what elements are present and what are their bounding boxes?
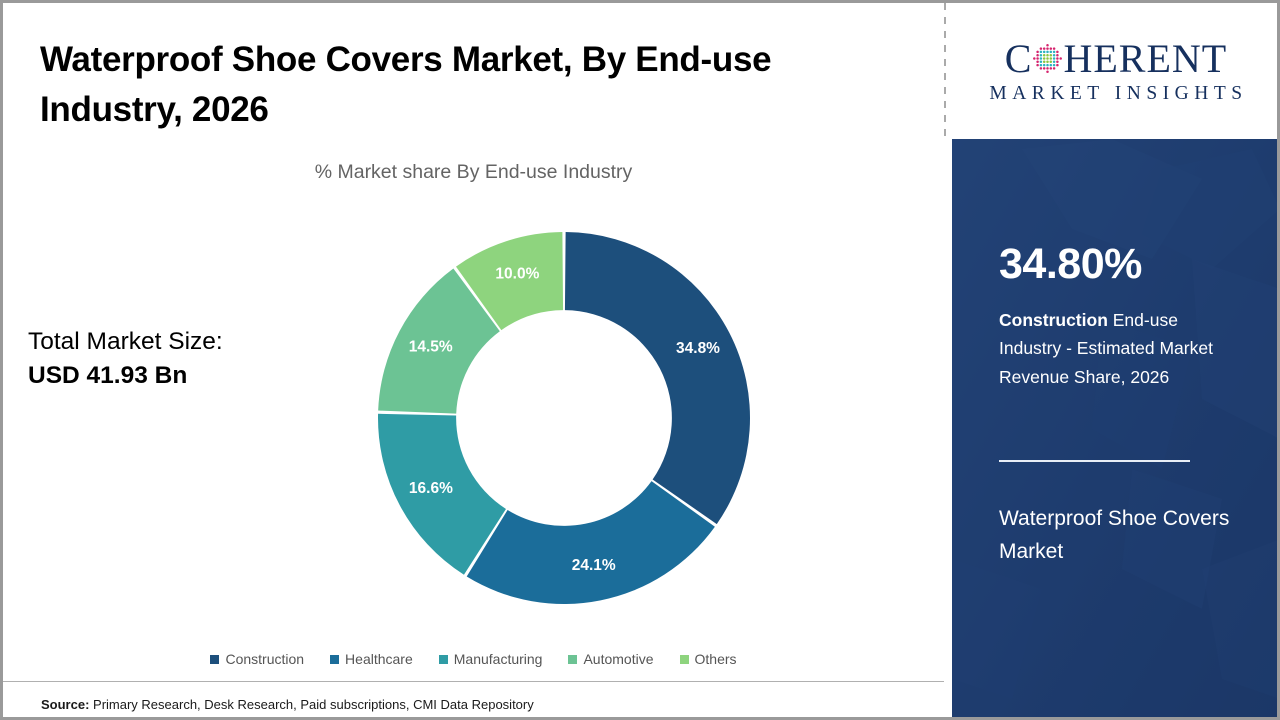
page-title: Waterproof Shoe Covers Market, By End-us… [40,35,850,134]
brand-name-part2: HERENT [1063,39,1227,79]
chart-legend: ConstructionHealthcareManufacturingAutom… [3,651,944,667]
legend-label-others: Others [695,651,737,667]
brand-logo: C HERENT MARKET INSIGHTS [952,3,1280,139]
total-market-size-label: Total Market Size: [28,325,328,359]
legend-swatch-others [680,655,689,664]
total-market-size-block: Total Market Size: USD 41.93 Bn [28,325,328,393]
donut-slice-label-automotive: 14.5% [409,338,453,355]
legend-label-construction: Construction [225,651,304,667]
world-map-texture [952,139,1280,717]
brand-name-part1: C [1005,39,1033,79]
donut-slice-label-others: 10.0% [495,266,539,283]
legend-item-automotive[interactable]: Automotive [568,651,653,667]
right-sidebar-panel: C HERENT MARKET INSIGHTS [952,3,1280,717]
donut-chart: 34.8%24.1%16.6%14.5%10.0% [375,225,753,611]
left-content-panel: Waterproof Shoe Covers Market, By End-us… [3,3,944,717]
infographic-page: Waterproof Shoe Covers Market, By End-us… [0,0,1280,720]
legend-swatch-construction [210,655,219,664]
chart-subtitle: % Market share By End-use Industry [3,161,944,184]
brand-subtitle: MARKET INSIGHTS [984,84,1247,104]
donut-slice-label-healthcare: 24.1% [572,557,616,574]
stat-value: 34.80% [999,243,1259,286]
legend-swatch-automotive [568,655,577,664]
source-label: Source: [41,697,89,712]
source-divider [3,681,944,682]
legend-swatch-manufacturing [439,655,448,664]
donut-chart-svg: 34.8%24.1%16.6%14.5%10.0% [375,225,753,611]
legend-label-manufacturing: Manufacturing [454,651,543,667]
legend-label-automotive: Automotive [583,651,653,667]
donut-slice-label-construction: 34.8% [676,340,720,357]
legend-label-healthcare: Healthcare [345,651,413,667]
right-panel-divider [999,460,1190,462]
globe-dots-icon [1033,44,1062,73]
vertical-dashed-divider [944,3,946,139]
donut-slice-label-manufacturing: 16.6% [409,480,453,497]
donut-slice-group [378,232,750,604]
legend-swatch-healthcare [330,655,339,664]
donut-slice-healthcare[interactable] [467,481,715,604]
source-text: Primary Research, Desk Research, Paid su… [93,697,534,712]
donut-slice-construction[interactable] [565,232,750,524]
brand-wordmark: C HERENT [1005,39,1227,79]
total-market-size-value: USD 41.93 Bn [28,359,328,393]
stat-description-highlight: Construction [999,310,1108,330]
source-line: Source: Primary Research, Desk Research,… [41,697,534,712]
stat-description: Construction End-use Industry - Estimate… [999,306,1231,391]
legend-item-healthcare[interactable]: Healthcare [330,651,413,667]
right-panel-body: 34.80% Construction End-use Industry - E… [952,139,1280,717]
right-panel-market-name: Waterproof Shoe Covers Market [999,503,1249,568]
legend-item-manufacturing[interactable]: Manufacturing [439,651,543,667]
legend-item-others[interactable]: Others [680,651,737,667]
legend-item-construction[interactable]: Construction [210,651,304,667]
